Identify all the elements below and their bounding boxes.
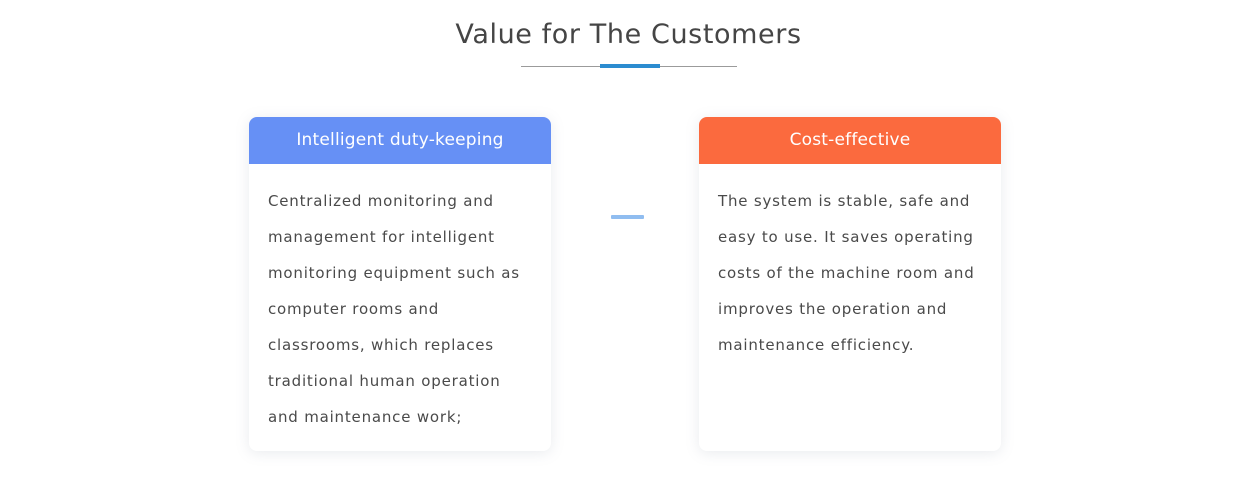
title-divider-accent bbox=[600, 64, 660, 68]
cards-separator-dash-icon bbox=[611, 215, 644, 219]
card-body-text: The system is stable, safe and easy to u… bbox=[699, 164, 1001, 363]
value-card-cost-effective[interactable]: Cost-effective The system is stable, saf… bbox=[699, 117, 1001, 451]
value-card-intelligent-duty-keeping[interactable]: Intelligent duty-keeping Centralized mon… bbox=[249, 117, 551, 451]
page-title: Value for The Customers bbox=[0, 18, 1257, 52]
card-body-text: Centralized monitoring and management fo… bbox=[249, 164, 551, 435]
card-header-title: Intelligent duty-keeping bbox=[249, 117, 551, 164]
title-divider bbox=[521, 61, 737, 73]
page-root: Value for The Customers Intelligent duty… bbox=[0, 0, 1257, 496]
card-header-title: Cost-effective bbox=[699, 117, 1001, 164]
section-header: Value for The Customers bbox=[0, 18, 1257, 73]
